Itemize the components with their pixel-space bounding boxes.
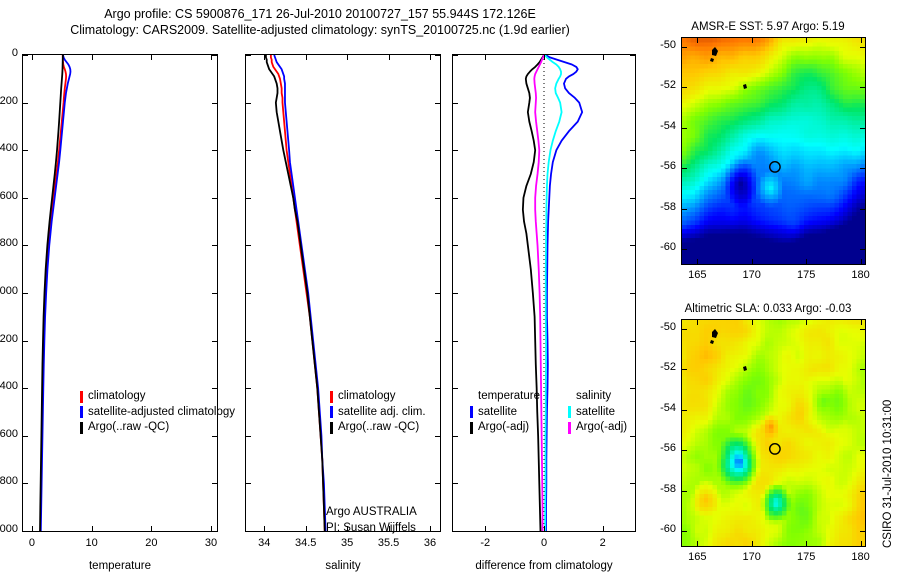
depth-tick-mark: [453, 341, 458, 342]
xtick--2: -2: [480, 537, 490, 549]
legend-item-argo: Argo(..raw -QC): [80, 420, 242, 436]
depth-tick-mark: [23, 198, 28, 199]
csiro-timestamp-text: CSIRO 31-Jul-2010 10:31:00: [882, 400, 894, 548]
xtick-mark: [32, 526, 33, 531]
depth-tick-mark: [23, 341, 28, 342]
depth-tick-mark: [435, 388, 440, 389]
xtick-35.5: 35.5: [378, 537, 399, 549]
map-lat-tick: [682, 450, 687, 451]
depth-tick-mark: [630, 245, 635, 246]
legend-label: salinity: [576, 389, 611, 405]
temperature-legend: climatology satellite-adjusted climatolo…: [80, 389, 242, 439]
map-lat-tick: [682, 168, 687, 169]
sst-map-image: [682, 38, 865, 264]
sst-map-panel[interactable]: [681, 37, 866, 265]
xtick-mark: [151, 55, 152, 60]
depth-tick-0: 0: [12, 47, 18, 59]
legend-label: climatology: [88, 389, 146, 405]
map1-lat--56: -56: [660, 160, 676, 172]
map1-lon-165: 165: [688, 269, 706, 281]
swatch-temp-argo-icon: [470, 422, 473, 434]
legend-item-climatology: climatology: [330, 389, 442, 405]
salinity-axis-title: salinity: [245, 560, 441, 572]
map-lon-tick: [806, 259, 807, 264]
map-lat-tick: [682, 87, 687, 88]
swatch-climatology-icon: [80, 391, 83, 403]
depth-tick-1800: 1800: [0, 475, 18, 487]
map-lat-tick: [682, 47, 687, 48]
xtick-mark: [603, 55, 604, 60]
map2-lat--56: -56: [660, 442, 676, 454]
map-lon-tick: [861, 38, 862, 43]
depth-tick-mark: [23, 436, 28, 437]
depth-tick-mark: [212, 436, 217, 437]
title-line-2: Climatology: CARS2009. Satellite-adjuste…: [0, 22, 640, 38]
legend-item-satellite: satellite adj. clim.: [330, 405, 442, 421]
map1-lat--54: -54: [660, 120, 676, 132]
map2-lat--54: -54: [660, 402, 676, 414]
xtick-2: 2: [600, 537, 606, 549]
legend-label: satellite adj. clim.: [338, 405, 426, 421]
depth-tick-mark: [630, 293, 635, 294]
depth-tick-mark: [246, 150, 251, 151]
map2-lon-175: 175: [797, 551, 815, 563]
swatch-climatology-icon: [330, 391, 333, 403]
depth-tick-mark: [630, 388, 635, 389]
xtick-mark: [389, 526, 390, 531]
depth-tick-mark: [212, 531, 217, 532]
map1-lat--50: -50: [660, 39, 676, 51]
depth-tick-mark: [435, 103, 440, 104]
swatch-satellite-icon: [80, 406, 83, 418]
depth-tick-mark: [453, 531, 458, 532]
map-lat-tick: [682, 491, 687, 492]
csiro-timestamp: CSIRO 31-Jul-2010 10:31:00: [869, 380, 885, 550]
depth-tick-600: 600: [0, 190, 18, 202]
salinity-plot-area: [246, 55, 440, 531]
xtick-36: 36: [424, 537, 436, 549]
map-lon-tick: [806, 38, 807, 43]
map-lat-tick: [682, 249, 687, 250]
depth-tick-1400: 1400: [0, 380, 18, 392]
xtick-mark: [211, 526, 212, 531]
depth-tick-mark: [212, 103, 217, 104]
depth-tick-mark: [453, 388, 458, 389]
depth-tick-mark: [246, 483, 251, 484]
swatch-argo-icon: [80, 422, 83, 434]
legend-item-temp-satellite: satellite: [470, 405, 540, 421]
legend-heading-temperature: temperature: [470, 389, 540, 405]
depth-tick-mark: [246, 103, 251, 104]
xtick-mark: [347, 55, 348, 60]
xtick-mark: [92, 526, 93, 531]
xtick-34.5: 34.5: [295, 537, 316, 549]
depth-tick-mark: [453, 436, 458, 437]
depth-tick-mark: [246, 436, 251, 437]
map-lat-tick: [860, 249, 865, 250]
map-lat-tick: [682, 369, 687, 370]
map2-lon-170: 170: [743, 551, 761, 563]
xtick-34: 34: [258, 537, 270, 549]
map2-lon-165: 165: [688, 551, 706, 563]
xtick-mark: [544, 526, 545, 531]
xtick-mark: [264, 526, 265, 531]
map-lat-tick: [860, 329, 865, 330]
depth-tick-mark: [453, 103, 458, 104]
depth-tick-400: 400: [0, 142, 18, 154]
legend-item-sal-satellite: satellite: [568, 405, 627, 421]
map-lat-tick: [682, 329, 687, 330]
depth-tick-mark: [212, 245, 217, 246]
map-lat-tick: [860, 209, 865, 210]
map-lon-tick: [697, 320, 698, 325]
map1-lat--58: -58: [660, 201, 676, 213]
depth-tick-mark: [212, 341, 217, 342]
map1-lat--52: -52: [660, 79, 676, 91]
legend-label: Argo(-adj): [478, 420, 529, 436]
difference-plot-area: [453, 55, 635, 531]
depth-tick-mark: [23, 103, 28, 104]
legend-label: temperature: [478, 389, 540, 405]
legend-label: satellite: [576, 405, 615, 421]
map2-lat--58: -58: [660, 483, 676, 495]
xtick-20: 20: [145, 537, 157, 549]
difference-axis-title: difference from climatology: [452, 560, 636, 572]
legend-label: Argo(-adj): [576, 420, 627, 436]
depth-tick-mark: [630, 531, 635, 532]
depth-tick-mark: [23, 483, 28, 484]
xtick-0: 0: [29, 537, 35, 549]
map-lat-tick: [682, 209, 687, 210]
map1-lat--60: -60: [660, 241, 676, 253]
depth-tick-mark: [630, 103, 635, 104]
xtick-mark: [430, 526, 431, 531]
depth-tick-mark: [246, 245, 251, 246]
depth-tick-mark: [630, 436, 635, 437]
swatch-spacer-icon: [568, 391, 571, 403]
temperature-plot-area: [23, 55, 217, 531]
map1-lon-175: 175: [797, 269, 815, 281]
depth-tick-mark: [435, 55, 440, 56]
sla-map-image: [682, 320, 865, 546]
map-lat-tick: [860, 410, 865, 411]
depth-tick-mark: [435, 341, 440, 342]
map-lon-tick: [752, 320, 753, 325]
depth-tick-mark: [453, 55, 458, 56]
xtick-0: 0: [541, 537, 547, 549]
xtick-mark: [211, 55, 212, 60]
map-lon-tick: [806, 320, 807, 325]
title-line-1: Argo profile: CS 5900876_171 26-Jul-2010…: [0, 6, 640, 22]
depth-tick-mark: [630, 55, 635, 56]
attribution-line-1: Argo AUSTRALIA: [326, 505, 456, 521]
xtick-mark: [603, 526, 604, 531]
depth-tick-mark: [23, 388, 28, 389]
map-lat-tick: [860, 369, 865, 370]
xtick-35: 35: [341, 537, 353, 549]
depth-tick-mark: [246, 341, 251, 342]
legend-label: satellite: [478, 405, 517, 421]
map-lon-tick: [806, 541, 807, 546]
depth-tick-mark: [23, 293, 28, 294]
depth-tick-mark: [246, 198, 251, 199]
depth-tick-mark: [212, 388, 217, 389]
map1-lon-170: 170: [743, 269, 761, 281]
map-lon-tick: [752, 541, 753, 546]
xtick-mark: [306, 526, 307, 531]
depth-tick-mark: [23, 531, 28, 532]
depth-tick-mark: [246, 531, 251, 532]
xtick-mark: [92, 55, 93, 60]
difference-profile-panel[interactable]: [452, 54, 636, 532]
map-lat-tick: [860, 450, 865, 451]
depth-tick-mark: [246, 55, 251, 56]
map2-lon-180: 180: [851, 551, 869, 563]
legend-heading-salinity: salinity: [568, 389, 627, 405]
xtick-mark: [264, 55, 265, 60]
map2-lat--52: -52: [660, 361, 676, 373]
depth-tick-mark: [435, 150, 440, 151]
depth-tick-mark: [23, 55, 28, 56]
xtick-mark: [389, 55, 390, 60]
depth-tick-mark: [212, 483, 217, 484]
depth-tick-mark: [435, 293, 440, 294]
map-lat-tick: [860, 168, 865, 169]
depth-tick-200: 200: [0, 95, 18, 107]
xtick-mark: [485, 526, 486, 531]
legend-item-climatology: climatology: [80, 389, 242, 405]
map-lat-tick: [860, 87, 865, 88]
depth-tick-mark: [23, 245, 28, 246]
map-lat-tick: [682, 410, 687, 411]
depth-tick-mark: [435, 436, 440, 437]
temperature-axis-title: temperature: [22, 560, 218, 572]
depth-tick-mark: [435, 483, 440, 484]
depth-tick-mark: [435, 198, 440, 199]
depth-tick-mark: [212, 150, 217, 151]
depth-tick-1200: 1200: [0, 333, 18, 345]
xtick-mark: [151, 526, 152, 531]
swatch-satellite-icon: [330, 406, 333, 418]
map-lon-tick: [861, 259, 862, 264]
difference-legend-temperature: temperature satellite Argo(-adj): [470, 389, 540, 436]
legend-item-temp-argo: Argo(-adj): [470, 420, 540, 436]
map1-lon-180: 180: [851, 269, 869, 281]
xtick-mark: [306, 55, 307, 60]
depth-tick-mark: [246, 293, 251, 294]
depth-tick-mark: [212, 55, 217, 56]
depth-tick-mark: [630, 341, 635, 342]
map-lat-tick: [860, 531, 865, 532]
depth-tick-2000: 2000: [0, 523, 18, 535]
swatch-sal-argo-icon: [568, 422, 571, 434]
map-lon-tick: [697, 541, 698, 546]
map-lon-tick: [752, 38, 753, 43]
legend-label: Argo(..raw -QC): [88, 420, 169, 436]
xtick-mark: [32, 55, 33, 60]
depth-tick-1600: 1600: [0, 428, 18, 440]
map-lat-tick: [682, 128, 687, 129]
map-lat-tick: [860, 128, 865, 129]
xtick-mark: [430, 55, 431, 60]
legend-item-sal-argo: Argo(-adj): [568, 420, 627, 436]
depth-tick-mark: [453, 150, 458, 151]
depth-tick-800: 800: [0, 237, 18, 249]
xtick-mark: [347, 526, 348, 531]
temperature-profile-panel[interactable]: [22, 54, 218, 532]
swatch-sal-satellite-icon: [568, 406, 571, 418]
xtick-10: 10: [86, 537, 98, 549]
xtick-mark: [485, 55, 486, 60]
salinity-legend: climatology satellite adj. clim. Argo(..…: [330, 389, 442, 439]
map-lon-tick: [697, 259, 698, 264]
depth-tick-mark: [23, 150, 28, 151]
legend-item-argo: Argo(..raw -QC): [330, 420, 442, 436]
page-title: Argo profile: CS 5900876_171 26-Jul-2010…: [0, 6, 640, 38]
depth-tick-mark: [453, 198, 458, 199]
depth-tick-1000: 1000: [0, 285, 18, 297]
legend-label: satellite-adjusted climatology: [88, 405, 235, 421]
sla-map-panel[interactable]: [681, 319, 866, 547]
legend-label: Argo(..raw -QC): [338, 420, 419, 436]
attribution-line-2: PI: Susan Wijffels: [326, 521, 456, 537]
depth-tick-mark: [212, 198, 217, 199]
map-lat-tick: [682, 531, 687, 532]
legend-item-satellite: satellite-adjusted climatology: [80, 405, 242, 421]
depth-tick-mark: [630, 483, 635, 484]
depth-tick-mark: [453, 245, 458, 246]
map2-lat--50: -50: [660, 321, 676, 333]
xtick-mark: [544, 55, 545, 60]
difference-legend-salinity: salinity satellite Argo(-adj): [568, 389, 627, 436]
depth-tick-mark: [435, 245, 440, 246]
map-lon-tick: [861, 541, 862, 546]
legend-label: climatology: [338, 389, 396, 405]
sla-map-title: Altimetric SLA: 0.033 Argo: -0.03: [668, 303, 868, 315]
swatch-temp-satellite-icon: [470, 406, 473, 418]
sst-map-title: AMSR-E SST: 5.97 Argo: 5.19: [668, 21, 868, 33]
depth-tick-mark: [630, 150, 635, 151]
swatch-argo-icon: [330, 422, 333, 434]
salinity-profile-panel[interactable]: [245, 54, 441, 532]
xtick-30: 30: [205, 537, 217, 549]
map-lon-tick: [861, 320, 862, 325]
depth-tick-mark: [435, 531, 440, 532]
map-lon-tick: [697, 38, 698, 43]
depth-tick-mark: [212, 293, 217, 294]
map2-lat--60: -60: [660, 523, 676, 535]
depth-tick-mark: [453, 483, 458, 484]
depth-tick-mark: [453, 293, 458, 294]
swatch-spacer-icon: [470, 391, 473, 403]
map-lat-tick: [860, 47, 865, 48]
depth-tick-mark: [246, 388, 251, 389]
map-lon-tick: [752, 259, 753, 264]
depth-tick-mark: [630, 198, 635, 199]
map-lat-tick: [860, 491, 865, 492]
